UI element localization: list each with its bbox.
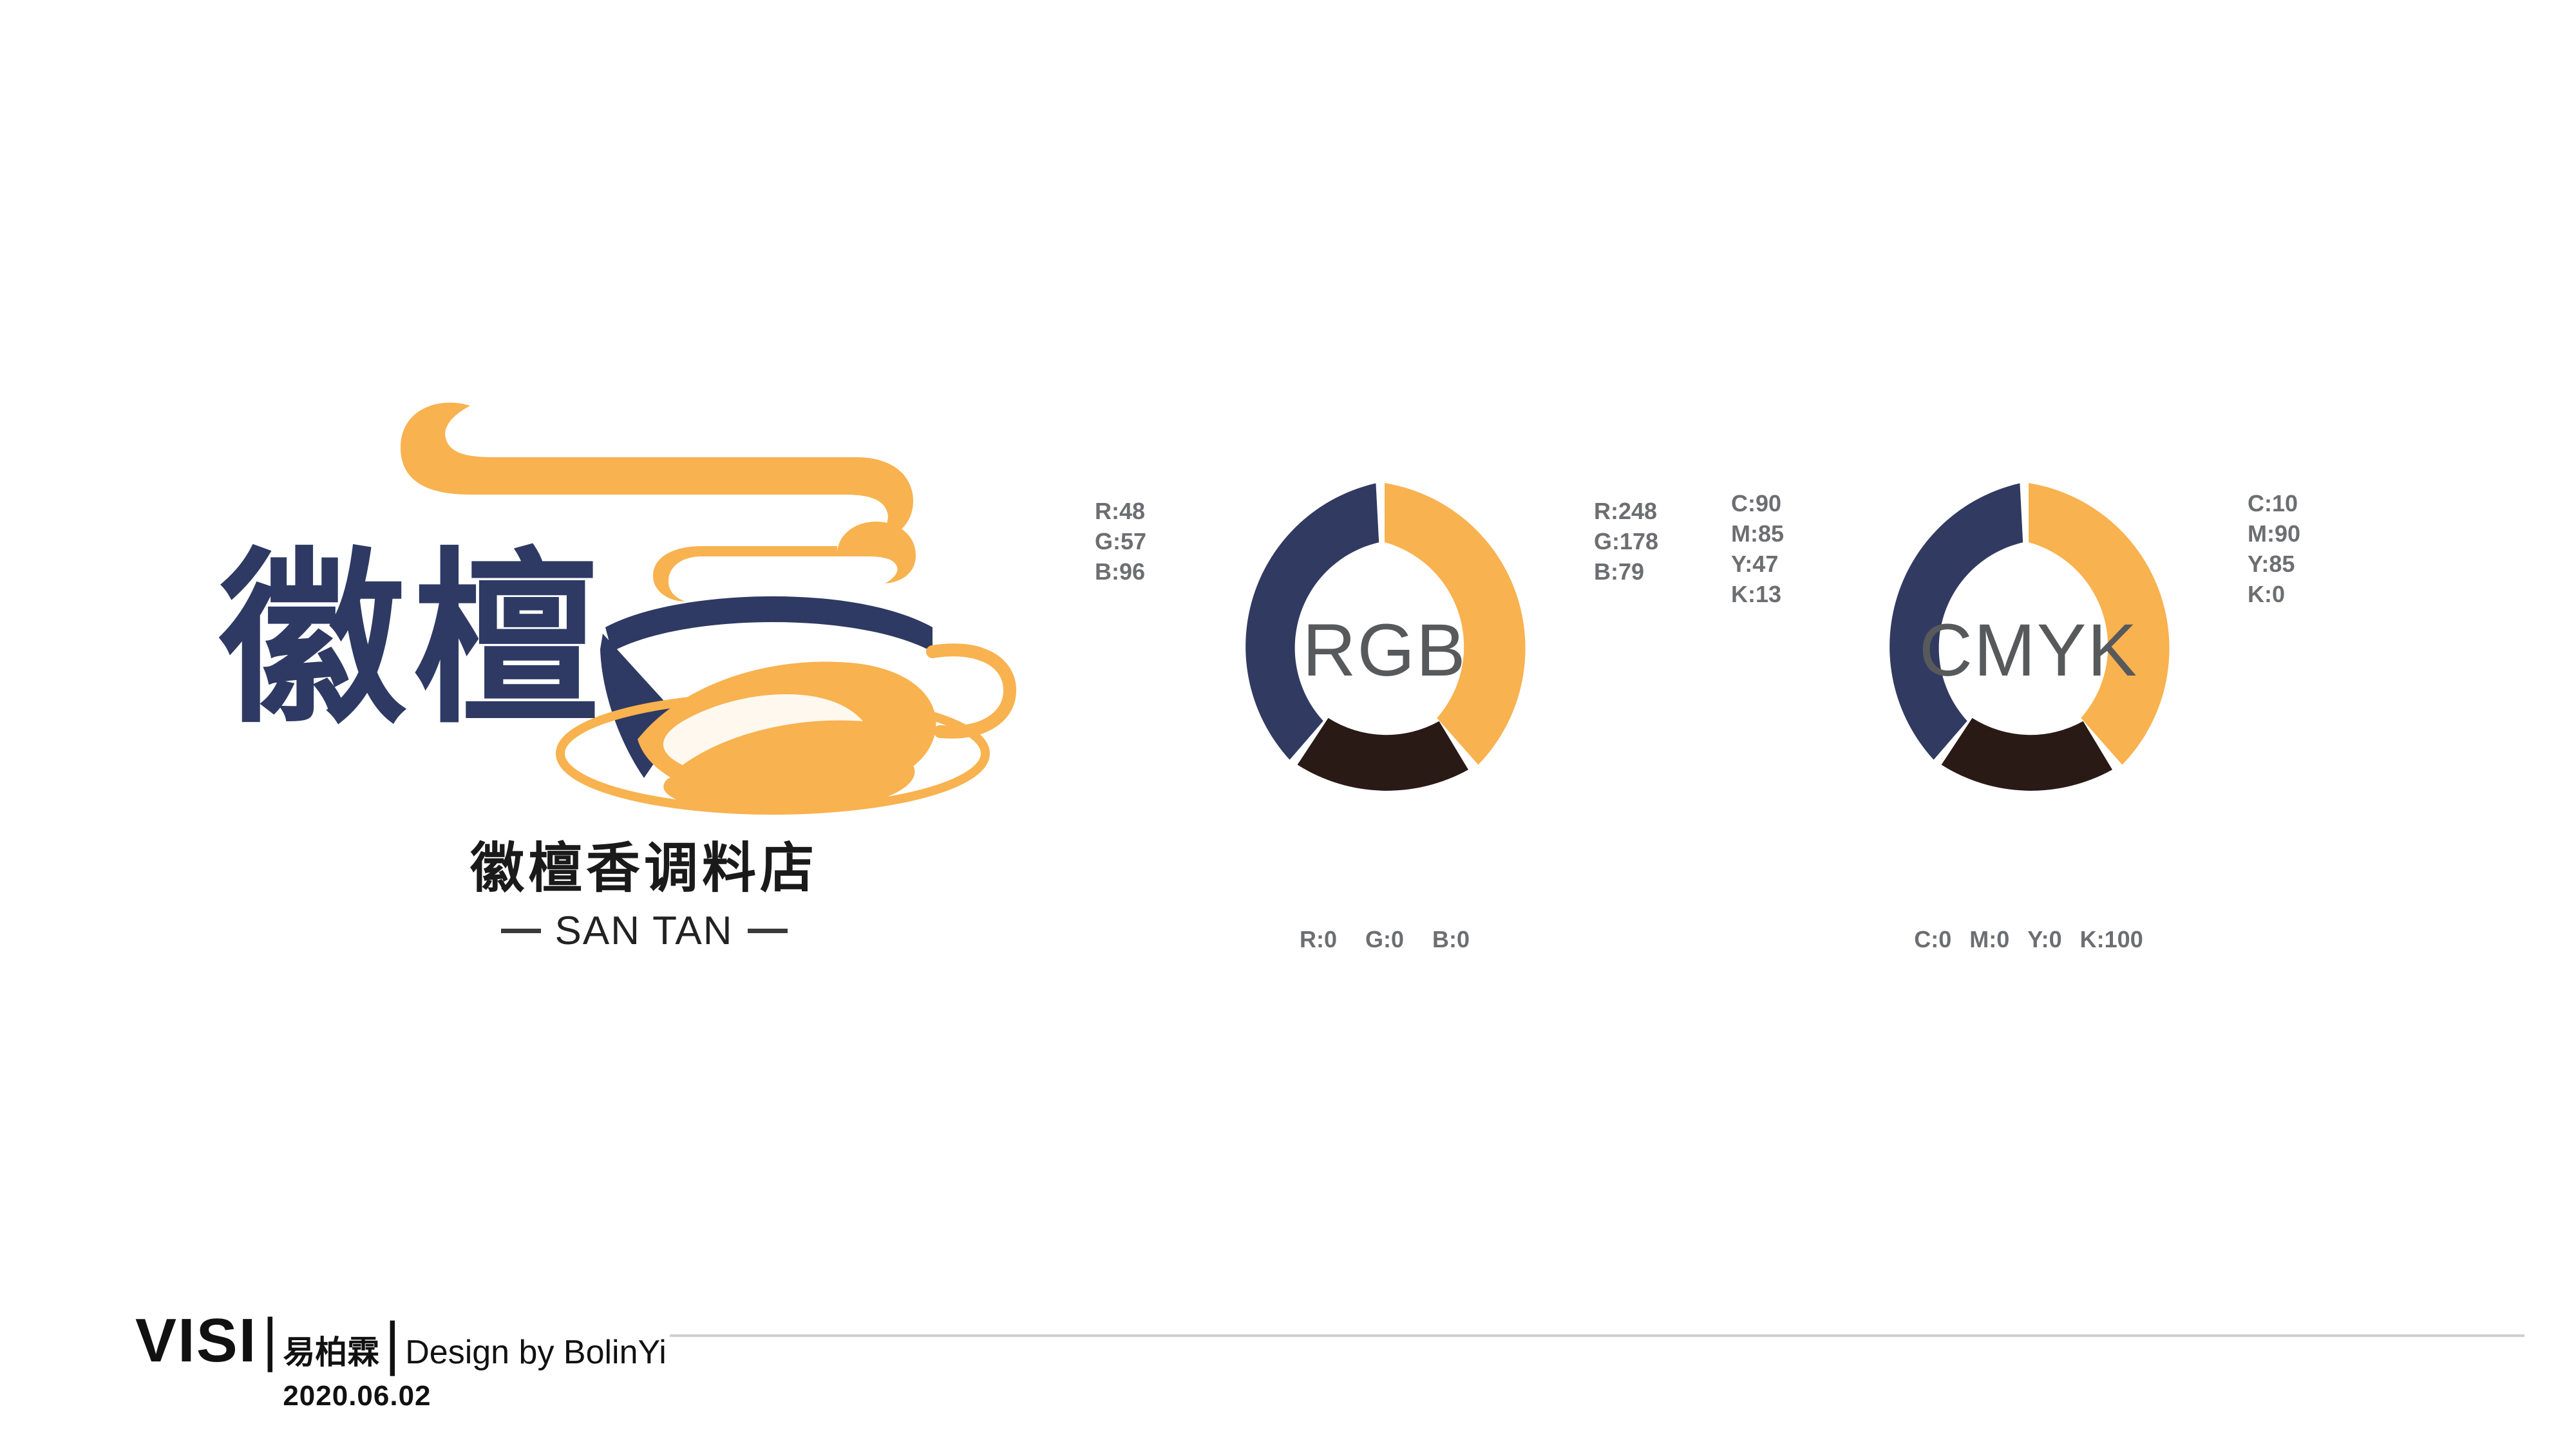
rgb-orange-r: R:248 [1594,496,1658,526]
rgb-orange-g: G:178 [1594,526,1658,556]
rgb-black-b: B:0 [1432,926,1470,952]
cmyk-blue-c: C:90 [1731,488,1784,518]
cmyk-blue-swatch-label: C:90 M:85 Y:47 K:13 [1731,488,1784,609]
rule-right [748,929,788,933]
rgb-black-g: G:0 [1365,926,1404,952]
footer-divider-rule [670,1334,2524,1337]
rgb-blue-g: G:57 [1095,526,1146,556]
brand-subtitle: 徽檀香调料店 [380,837,908,899]
cmyk-blue-k: K:13 [1731,579,1784,609]
cmyk-black-k: K:100 [2080,926,2143,952]
brand-romanized-row: SAN TAN [380,908,908,954]
footer-brand-lockup: VISI | 易柏霖 | Design by BolinYi 2020.06.0… [135,1306,667,1413]
rgb-donut-ring [1191,457,1578,844]
rgb-blue-b: B:96 [1095,556,1146,587]
brand-romanized: SAN TAN [555,908,734,954]
cmyk-donut-ring [1835,457,2222,844]
page-footer: VISI | 易柏霖 | Design by BolinYi 2020.06.0… [0,1301,2576,1423]
footer-visi-label: VISI [135,1306,257,1376]
cmyk-black-c: C:0 [1914,926,1951,952]
rgb-blue-swatch-label: R:48 G:57 B:96 [1095,496,1146,587]
rgb-color-donut: R:48 G:57 B:96 R:248 G:178 B:79 RGB R:0 … [1095,451,1674,985]
rgb-black-swatch-label: R:0 G:0 B:0 [1095,924,1674,954]
footer-credit-block: 易柏霖 | Design by BolinYi 2020.06.02 [283,1306,667,1413]
footer-credit-line: 易柏霖 | Design by BolinYi [283,1310,667,1377]
footer-design-by: Design by BolinYi [405,1334,667,1370]
rgb-black-r: R:0 [1300,926,1337,952]
cmyk-black-swatch-label: C:0 M:0 Y:0 K:100 [1739,924,2318,954]
rgb-orange-swatch-label: R:248 G:178 B:79 [1594,496,1658,587]
cmyk-orange-c: C:10 [2248,488,2300,518]
rgb-blue-r: R:48 [1095,496,1146,526]
cmyk-black-y: Y:0 [2027,926,2061,952]
cmyk-orange-swatch-label: C:10 M:90 Y:85 K:0 [2248,488,2300,609]
footer-date: 2020.06.02 [283,1379,667,1413]
footer-pipe-separator-2: | [384,1310,400,1377]
cmyk-orange-k: K:0 [2248,579,2300,609]
cmyk-blue-y: Y:47 [1731,549,1784,579]
cmyk-black-m: M:0 [1969,926,2009,952]
footer-pipe-separator-1: | [262,1306,278,1373]
footer-designer-name-cn: 易柏霖 [283,1334,379,1370]
brand-logo-block: 徽檀 徽檀香调料店 SAN TAN [193,361,1095,1005]
cmyk-orange-y: Y:85 [2248,549,2300,579]
cmyk-orange-m: M:90 [2248,518,2300,549]
rule-left [501,929,541,933]
cmyk-blue-m: M:85 [1731,518,1784,549]
brand-wordmark: 徽檀 [219,535,799,747]
cmyk-color-donut: C:90 M:85 Y:47 K:13 C:10 M:90 Y:85 K:0 C… [1739,451,2318,985]
rgb-orange-b: B:79 [1594,556,1658,587]
